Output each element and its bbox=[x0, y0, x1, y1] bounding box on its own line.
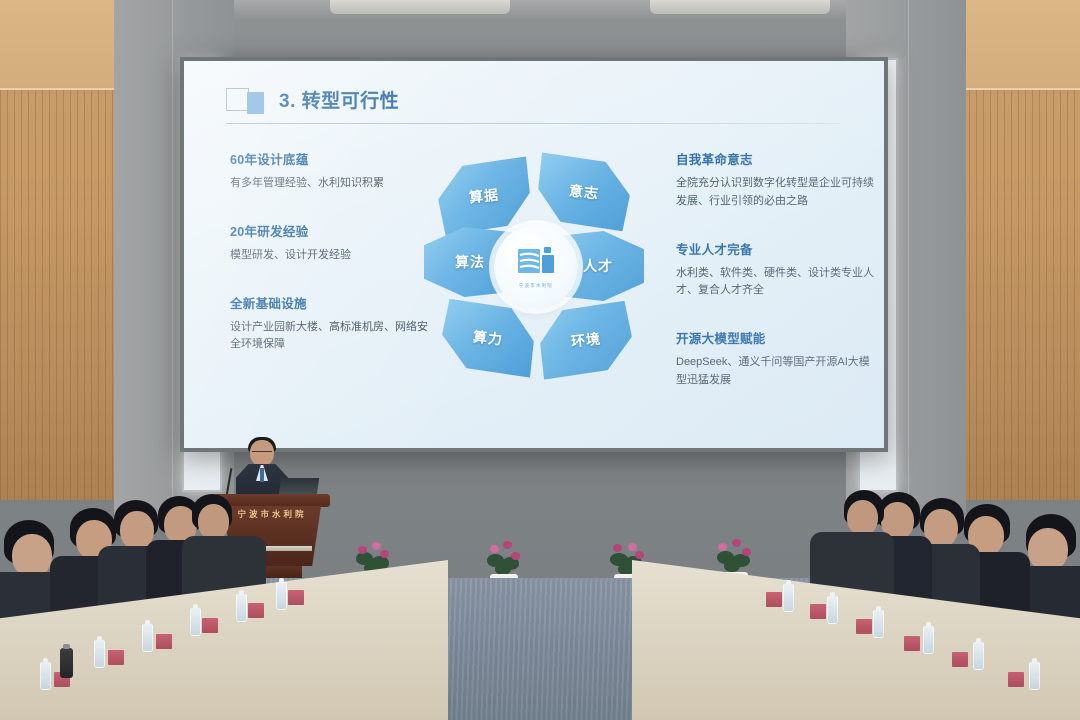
feature-heading: 全新基础设施 bbox=[230, 293, 430, 312]
name-card[interactable] bbox=[248, 603, 264, 618]
name-card[interactable] bbox=[766, 592, 782, 607]
feature-block: 专业人才完备 水利类、软件类、硬件类、设计类专业人才、复合人才齐全 bbox=[676, 239, 876, 301]
name-card[interactable] bbox=[156, 634, 172, 649]
water-bottle[interactable] bbox=[873, 610, 884, 638]
feature-block: 全新基础设施 设计产业园新大楼、高标准机房、网络安全环境保障 bbox=[230, 293, 430, 355]
water-bottle[interactable] bbox=[276, 582, 287, 610]
diagram-petal-top-left: 算据 bbox=[435, 156, 534, 235]
slide-right-column: 自我革命意志 全院充分认识到数字化转型是企业可持续发展、行业引领的必由之路 专业… bbox=[676, 149, 876, 418]
diagram-petal-bottom-left: 算力 bbox=[439, 298, 538, 377]
title-divider bbox=[226, 123, 840, 124]
feature-heading: 60年设计底蕴 bbox=[230, 149, 430, 168]
water-bottle[interactable] bbox=[783, 584, 794, 612]
laptop-icon bbox=[279, 478, 319, 495]
water-bottle[interactable] bbox=[827, 596, 838, 624]
feature-heading: 20年研发经验 bbox=[230, 221, 430, 240]
projection-screen-frame: 3. 转型可行性 60年设计底蕴 有多年管理经验、水利知识积累 20年研发经验 … bbox=[180, 57, 888, 452]
square-outline-icon bbox=[226, 88, 249, 111]
name-card[interactable] bbox=[856, 619, 872, 634]
diagram-petal-bottom-right: 环境 bbox=[537, 300, 636, 379]
ceiling-light bbox=[330, 0, 510, 14]
plant-foliage bbox=[482, 536, 526, 578]
petal-label: 算力 bbox=[472, 326, 504, 349]
glasses-icon bbox=[252, 451, 272, 456]
feature-heading: 开源大模型赋能 bbox=[676, 328, 876, 347]
feature-heading: 自我革命意志 bbox=[676, 149, 876, 168]
water-bottle[interactable] bbox=[236, 594, 247, 622]
presentation-slide: 3. 转型可行性 60年设计底蕴 有多年管理经验、水利知识积累 20年研发经验 … bbox=[184, 61, 884, 448]
feature-heading: 专业人才完备 bbox=[676, 239, 876, 258]
feature-block: 60年设计底蕴 有多年管理经验、水利知识积累 bbox=[230, 149, 430, 193]
feature-body: 有多年管理经验、水利知识积累 bbox=[230, 175, 430, 193]
diagram-center-hub: 宁波市水利院 bbox=[494, 225, 578, 309]
hexagon-flower-diagram: 算据 意志 算法 人才 算力 bbox=[432, 153, 640, 385]
name-card[interactable] bbox=[288, 590, 304, 605]
feature-block: 开源大模型赋能 DeepSeek、通义千问等国产开源AI大模型迅猛发展 bbox=[676, 328, 876, 390]
name-card[interactable] bbox=[1008, 672, 1024, 687]
ceiling-light bbox=[650, 0, 830, 14]
feature-body: 设计产业园新大楼、高标准机房、网络安全环境保障 bbox=[230, 319, 430, 355]
feature-body: DeepSeek、通义千问等国产开源AI大模型迅猛发展 bbox=[676, 354, 876, 390]
company-logo-icon bbox=[516, 245, 556, 281]
feature-block: 自我革命意志 全院充分认识到数字化转型是企业可持续发展、行业引领的必由之路 bbox=[676, 149, 876, 211]
petal-label: 算法 bbox=[455, 252, 485, 272]
page-title: 3. 转型可行性 bbox=[279, 86, 399, 113]
petal-label: 算据 bbox=[468, 184, 500, 207]
speaker-tie bbox=[260, 468, 264, 482]
water-bottle[interactable] bbox=[1029, 662, 1040, 690]
slide-left-column: 60年设计底蕴 有多年管理经验、水利知识积累 20年研发经验 模型研发、设计开发… bbox=[230, 149, 430, 382]
water-bottle[interactable] bbox=[923, 626, 934, 654]
name-card[interactable] bbox=[810, 604, 826, 619]
thermos[interactable] bbox=[60, 648, 73, 678]
square-filled-icon bbox=[247, 92, 264, 114]
feature-body: 水利类、软件类、硬件类、设计类专业人才、复合人才齐全 bbox=[676, 265, 876, 301]
name-card[interactable] bbox=[904, 636, 920, 651]
water-bottle[interactable] bbox=[94, 640, 105, 668]
slide-title-row: 3. 转型可行性 bbox=[226, 85, 399, 114]
feature-body: 全院充分认识到数字化转型是企业可持续发展、行业引领的必由之路 bbox=[676, 175, 876, 211]
plant-foliage bbox=[712, 534, 756, 576]
petal-label: 环境 bbox=[570, 328, 602, 351]
petal-label: 人才 bbox=[583, 256, 613, 276]
name-card[interactable] bbox=[202, 618, 218, 633]
water-bottle[interactable] bbox=[40, 662, 51, 690]
petal-label: 意志 bbox=[568, 180, 600, 203]
name-card[interactable] bbox=[108, 650, 124, 665]
water-bottle[interactable] bbox=[973, 642, 984, 670]
diagram-petal-top-right: 意志 bbox=[535, 152, 634, 231]
feature-block: 20年研发经验 模型研发、设计开发经验 bbox=[230, 221, 430, 265]
name-card[interactable] bbox=[952, 652, 968, 667]
water-bottle[interactable] bbox=[142, 624, 153, 652]
conference-room-scene: 3. 转型可行性 60年设计底蕴 有多年管理经验、水利知识积累 20年研发经验 … bbox=[0, 0, 1080, 720]
logo-caption: 宁波市水利院 bbox=[519, 283, 553, 289]
feature-body: 模型研发、设计开发经验 bbox=[230, 247, 430, 265]
water-bottle[interactable] bbox=[190, 608, 201, 636]
